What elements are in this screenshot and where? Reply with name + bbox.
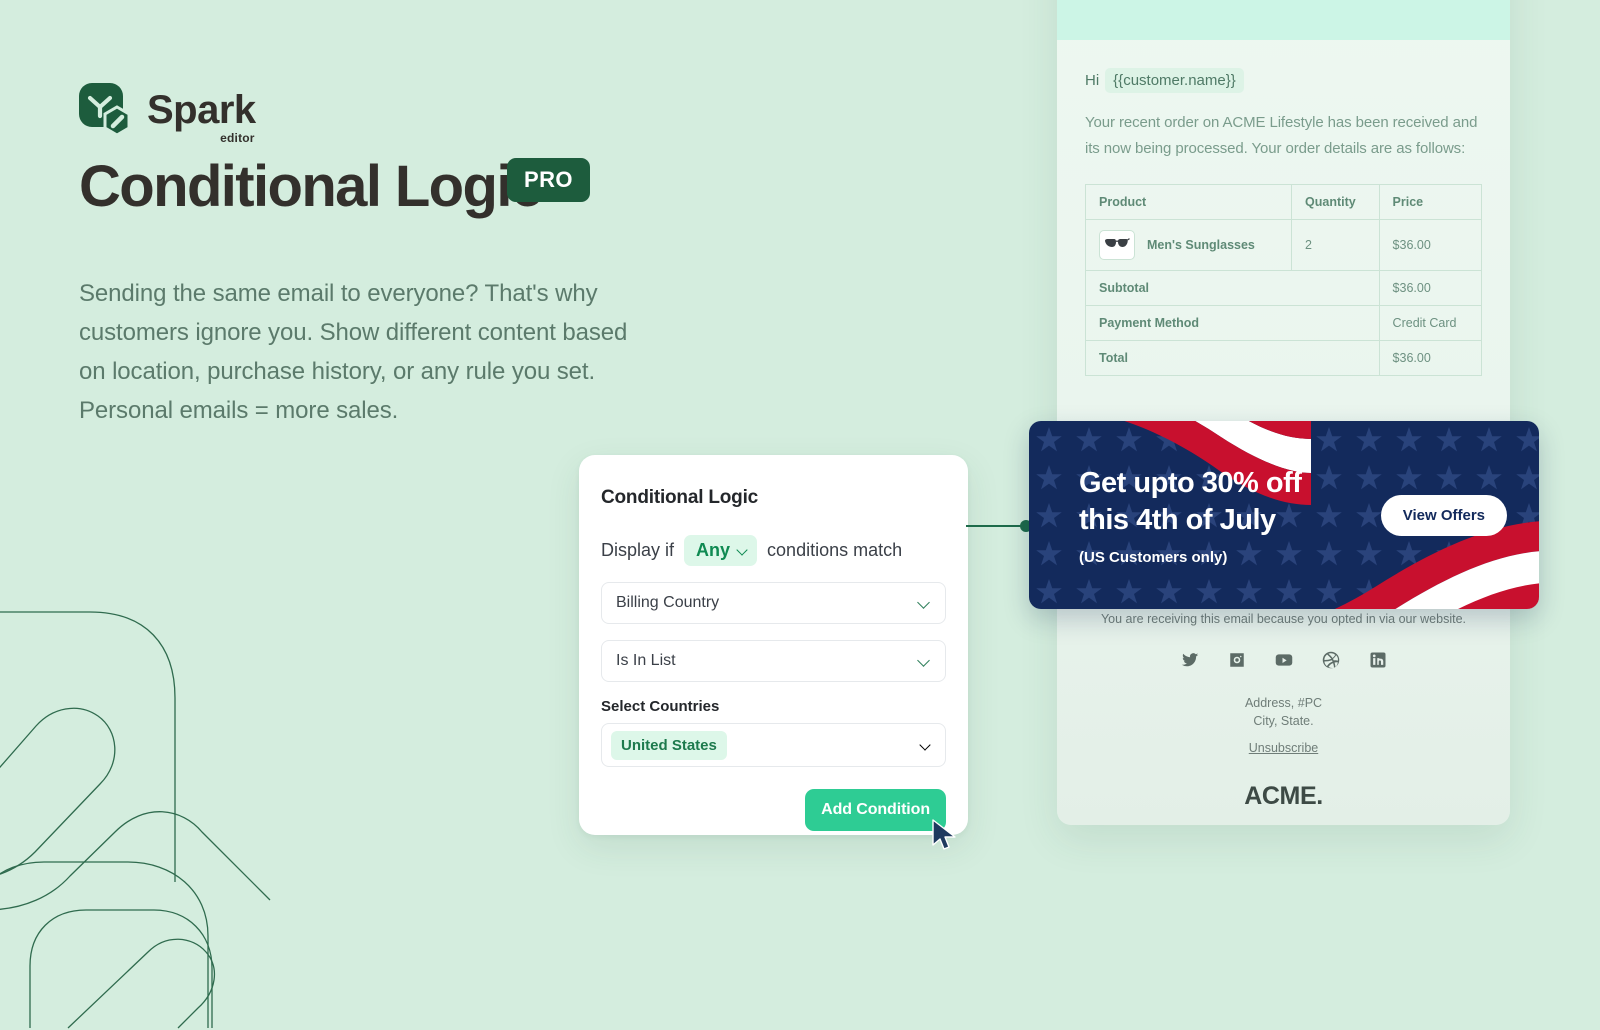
card-footer: Add Condition (601, 789, 946, 831)
match-mode-dropdown[interactable]: Any (684, 535, 757, 566)
chevron-down-icon (737, 545, 748, 556)
promo-text-block: Get upto 30% off this 4th of July (US Cu… (1079, 465, 1301, 566)
email-paragraph: Your recent order on ACME Lifestyle has … (1085, 110, 1482, 162)
connector-line (966, 518, 1032, 534)
countries-field-label: Select Countries (601, 698, 946, 715)
col-product: Product (1086, 184, 1292, 219)
subtotal-value: $36.00 (1379, 270, 1481, 305)
quantity-cell: 2 (1292, 219, 1380, 270)
operator-select-value: Is In List (616, 652, 676, 670)
payment-method-label: Payment Method (1086, 305, 1380, 340)
chevron-down-icon (920, 740, 931, 751)
display-if-label: Display if (601, 540, 674, 561)
table-row: Payment Method Credit Card (1086, 305, 1482, 340)
chevron-down-icon (918, 655, 931, 668)
instagram-icon[interactable] (1228, 651, 1246, 669)
table-header-row: Product Quantity Price (1086, 184, 1482, 219)
twitter-icon[interactable] (1181, 651, 1199, 669)
email-preview-panel: Hi {{customer.name}} Your recent order o… (1057, 0, 1510, 825)
total-value: $36.00 (1379, 340, 1481, 375)
product-cell: Men's Sunglasses (1086, 219, 1292, 270)
email-hero-band (1057, 0, 1510, 40)
card-title: Conditional Logic (601, 487, 946, 509)
spark-envelope-pencil-icon (79, 83, 133, 137)
payment-method-value: Credit Card (1379, 305, 1481, 340)
col-quantity: Quantity (1292, 184, 1380, 219)
table-row: Men's Sunglasses 2 $36.00 (1086, 219, 1482, 270)
brand-subname: editor (220, 131, 255, 145)
mouse-cursor-icon (930, 819, 960, 853)
brand-logo[interactable]: Spark editor (79, 83, 256, 137)
opt-in-note: You are receiving this email because you… (1079, 612, 1488, 626)
connector-stroke (966, 525, 1024, 527)
youtube-icon[interactable] (1275, 651, 1293, 669)
brand-name: Spark (147, 88, 256, 132)
table-row: Total $36.00 (1086, 340, 1482, 375)
selected-country-tag[interactable]: United States (611, 731, 727, 760)
page-title-wrap: Conditional Logic PRO (79, 155, 542, 219)
total-label: Total (1086, 340, 1380, 375)
field-select[interactable]: Billing Country (601, 582, 946, 624)
address-line-1: Address, #PC (1079, 695, 1488, 713)
email-footer: You are receiving this email because you… (1057, 612, 1510, 811)
pro-badge: PRO (507, 158, 590, 202)
merge-tag-pill: {{customer.name}} (1105, 68, 1244, 93)
col-price: Price (1379, 184, 1481, 219)
dribbble-icon[interactable] (1322, 651, 1340, 669)
unsubscribe-link[interactable]: Unsubscribe (1249, 741, 1318, 755)
countries-select[interactable]: United States (601, 723, 946, 767)
email-greeting: Hi {{customer.name}} (1085, 68, 1482, 93)
promo-subtitle: (US Customers only) (1079, 549, 1301, 566)
sunglasses-icon (1099, 230, 1135, 260)
hero-subheadline: Sending the same email to everyone? That… (79, 274, 639, 430)
company-logo-text: ACME. (1079, 782, 1488, 811)
address-line-2: City, State. (1079, 713, 1488, 731)
promo-banner: Get upto 30% off this 4th of July (US Cu… (1029, 421, 1539, 609)
conditions-match-label: conditions match (767, 540, 902, 561)
view-offers-button[interactable]: View Offers (1381, 495, 1507, 536)
table-row: Subtotal $36.00 (1086, 270, 1482, 305)
order-summary-table: Product Quantity Price (1085, 184, 1482, 376)
field-select-value: Billing Country (616, 594, 719, 612)
price-cell: $36.00 (1379, 219, 1481, 270)
promo-title-line-1: Get upto 30% off (1079, 465, 1301, 502)
promo-title-line-2: this 4th of July (1079, 502, 1301, 539)
page-title: Conditional Logic (79, 155, 542, 219)
display-if-row: Display if Any conditions match (601, 535, 946, 566)
conditional-logic-card: Conditional Logic Display if Any conditi… (579, 455, 968, 835)
linkedin-icon[interactable] (1369, 651, 1387, 669)
add-condition-button[interactable]: Add Condition (805, 789, 946, 831)
match-mode-value: Any (696, 540, 730, 561)
chevron-down-icon (918, 597, 931, 610)
email-body: Hi {{customer.name}} Your recent order o… (1057, 40, 1510, 376)
operator-select[interactable]: Is In List (601, 640, 946, 682)
left-content-pane: Spark editor Conditional Logic PRO Sendi… (0, 0, 1030, 900)
social-links (1079, 651, 1488, 669)
product-name: Men's Sunglasses (1147, 238, 1255, 252)
subtotal-label: Subtotal (1086, 270, 1380, 305)
greeting-prefix: Hi (1085, 72, 1099, 89)
company-address: Address, #PC City, State. (1079, 695, 1488, 731)
